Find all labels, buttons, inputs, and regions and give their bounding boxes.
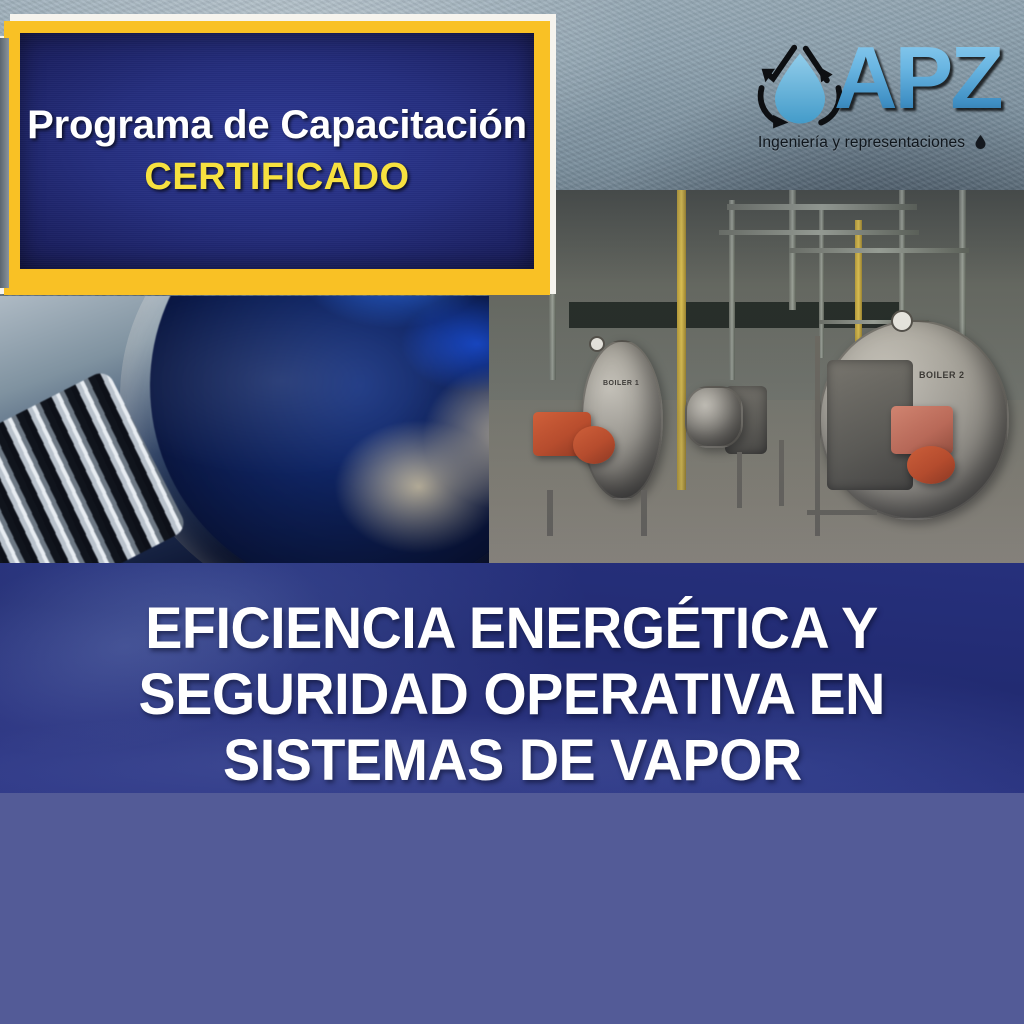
training-program-poster: BOILER 1 BOILER 2	[0, 0, 1024, 1024]
apz-logo: APZ Ingeniería y representaciones	[752, 38, 1014, 166]
lightbulb-earth-photo	[0, 296, 489, 566]
badge-title: Programa de Capacitación	[27, 103, 527, 148]
badge-left-edge	[0, 38, 9, 288]
badge-subtitle: CERTIFICADO	[144, 156, 409, 199]
title-line-1: EFICIENCIA ENERGÉTICA Y	[146, 596, 878, 662]
small-droplet-icon	[975, 135, 986, 149]
poster-title: EFICIENCIA ENERGÉTICA Y SEGURIDAD OPERAT…	[0, 596, 1024, 794]
title-line-2: SEGURIDAD OPERATIVA EN	[139, 662, 885, 728]
title-line-3: SISTEMAS DE VAPOR	[223, 728, 802, 794]
badge-text-group: Programa de Capacitación CERTIFICADO	[20, 33, 534, 269]
logo-wordmark: APZ	[834, 34, 1001, 122]
certificate-badge: Programa de Capacitación CERTIFICADO	[0, 14, 556, 296]
logo-tagline-row: Ingeniería y representaciones	[758, 134, 1014, 152]
logo-tagline: Ingeniería y representaciones	[758, 134, 965, 151]
photo-color-veil	[489, 190, 1024, 566]
boiler-room-photo: BOILER 1 BOILER 2	[489, 190, 1024, 566]
bulb-highlight	[150, 296, 480, 476]
title-band-light	[0, 793, 1024, 1024]
